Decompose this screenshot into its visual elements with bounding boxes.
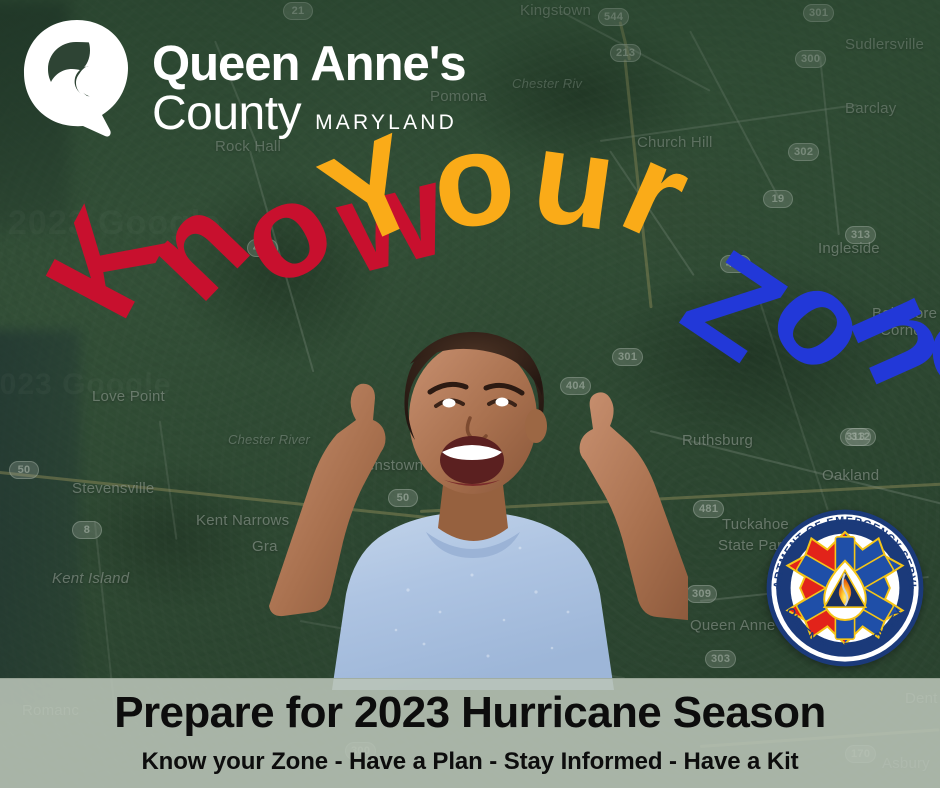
bottom-banner: Prepare for 2023 Hurricane Season Know y… [0, 678, 940, 788]
banner-subheadline: Know your Zone - Have a Plan - Stay Info… [141, 748, 798, 776]
county-logo: Queen Anne's County MARYLAND [18, 18, 466, 138]
person-photo-woman-pointing-up [258, 300, 688, 690]
queen-annes-q-icon [18, 18, 136, 138]
logo-county-word: County [152, 90, 301, 138]
banner-headline: Prepare for 2023 Hurricane Season [114, 691, 825, 735]
logo-wordmark: Queen Anne's County MARYLAND [152, 18, 466, 138]
logo-state-word: MARYLAND [315, 111, 457, 135]
headline-word-zone: Zone [660, 205, 940, 356]
logo-title-line: Queen Anne's [152, 40, 466, 88]
department-of-emergency-services-seal: DEPARTMENT OF EMERGENCY SERVICES QUEEN A… [765, 508, 925, 668]
poster-root: 2023 Google 2023 Google Rock HallPomonaK… [0, 0, 940, 788]
